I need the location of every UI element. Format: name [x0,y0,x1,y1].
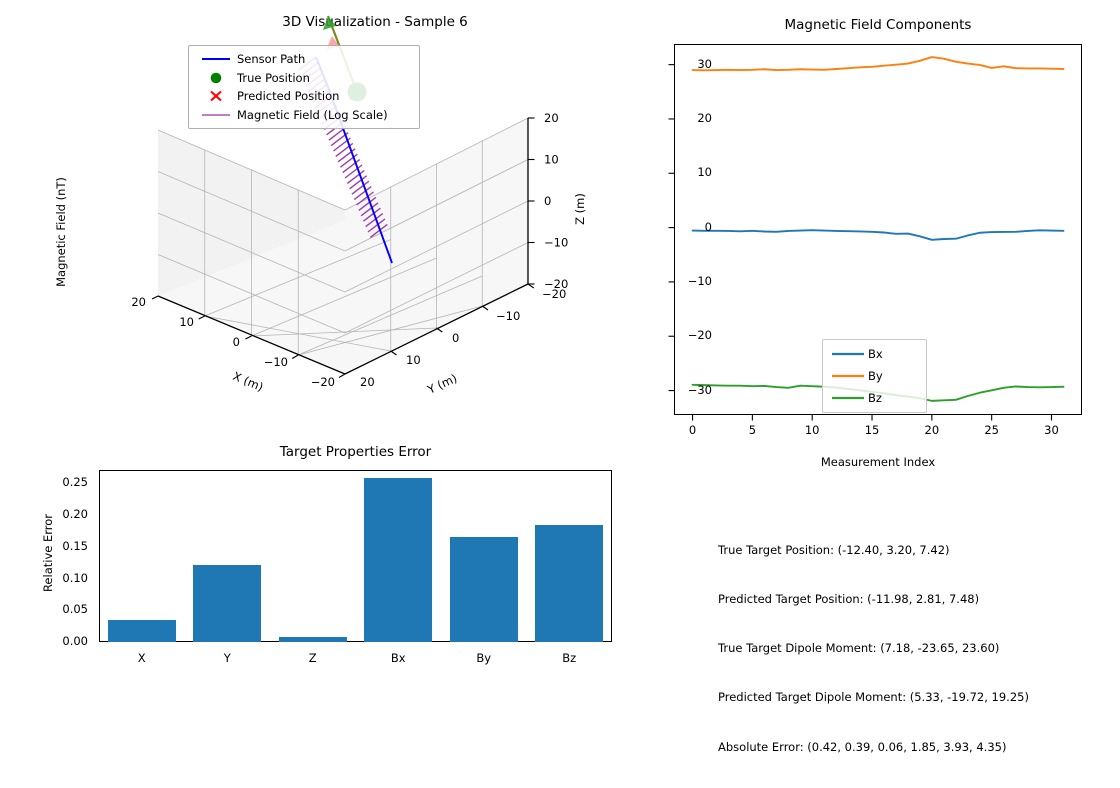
plot3d-xtick-1: 10 [179,315,194,329]
magnetic-field-line-icon [195,110,237,120]
plot3d-xtick-4: −20 [311,375,335,389]
linechart-ytick-1: 20 [664,111,712,125]
plot3d-ztick-0: 20 [544,111,559,125]
barchart-ytick-2: 0.10 [33,571,88,585]
linechart-xtick-0: 0 [673,423,713,437]
summary-text-block: True Target Position: (-12.40, 3.20, 7.4… [718,509,1029,788]
barchart-category-bz: Bz [539,651,599,665]
barchart-category-bx: Bx [368,651,428,665]
true-position-circle-icon [195,72,237,84]
linechart-xlabel: Measurement Index [674,455,1082,469]
legend-item-bx[interactable]: Bx [828,343,921,365]
bx-line-icon [828,350,868,358]
linechart-ytick-4: −10 [664,274,712,288]
plot3d-ztick-2: 0 [544,194,551,208]
legend-label-bz: Bz [868,391,882,405]
linechart-ytick-0: 30 [664,57,712,71]
linechart-xtick-5: 25 [972,423,1012,437]
linechart-ylabel: Magnetic Field (nT) [54,122,68,342]
plot3d-ylabel: Y (m) [424,371,459,397]
barchart-ytick-1: 0.05 [33,602,88,616]
legend-item-predicted-position[interactable]: Predicted Position [195,87,413,106]
linechart-xtick-1: 5 [732,423,772,437]
barchart-ytick-4: 0.20 [33,507,88,521]
barchart-ytick-3: 0.15 [33,539,88,553]
linechart-xtick-4: 20 [912,423,952,437]
barchart-ytick-0: 0.00 [33,634,88,648]
bz-line-icon [828,394,868,402]
plot3d-xtick-3: −10 [264,355,288,369]
legend-label-predicted-position: Predicted Position [237,89,339,103]
linechart-xtick-2: 10 [792,423,832,437]
info-line-true-dipole: True Target Dipole Moment: (7.18, -23.65… [718,640,1029,656]
linechart-xtick-3: 15 [852,423,892,437]
legend-label-by: By [868,369,883,383]
info-line-predicted-dipole: Predicted Target Dipole Moment: (5.33, -… [718,689,1029,705]
linechart-ytick-6: −30 [664,383,712,397]
plot3d-legend[interactable]: Sensor Path True Position Predicted Posi… [188,45,420,129]
linechart-legend[interactable]: Bx By Bz [822,339,927,413]
info-line-predicted-position: Predicted Target Position: (-11.98, 2.81… [718,591,1029,607]
by-line-icon [828,372,868,380]
barchart-category-z: Z [283,651,343,665]
barchart-category-x: X [112,651,172,665]
legend-label-bx: Bx [868,347,883,361]
legend-item-by[interactable]: By [828,365,921,387]
legend-label-sensor-path: Sensor Path [237,52,305,66]
plot3d-ytick-2: 0 [452,331,459,345]
info-line-absolute-error: Absolute Error: (0.42, 0.39, 0.06, 1.85,… [718,739,1029,755]
legend-item-magnetic-field[interactable]: Magnetic Field (Log Scale) [195,106,413,125]
legend-item-sensor-path[interactable]: Sensor Path [195,50,413,69]
legend-label-magnetic-field: Magnetic Field (Log Scale) [237,108,388,122]
sensor-path-line-icon [195,54,237,64]
figure-canvas: 3D Visualization - Sample 6 [0,0,1120,704]
plot3d-ztick-1: 10 [544,153,559,167]
plot3d-ytick-0: 20 [360,375,375,389]
legend-item-true-position[interactable]: True Position [195,69,413,88]
plot3d-ztick-3: −10 [544,236,568,250]
plot3d-zlabel: Z (m) [573,193,587,225]
legend-label-true-position: True Position [237,71,310,85]
linechart-xtick-6: 30 [1031,423,1071,437]
predicted-position-x-icon [195,90,237,102]
plot3d-ztick-4: −20 [544,277,568,291]
plot3d-ytick-1: 10 [406,353,421,367]
plot3d-xlabel: X (m) [231,369,266,394]
barchart-ytick-5: 0.25 [33,475,88,489]
legend-item-bz[interactable]: Bz [828,387,921,409]
linechart-ytick-2: 10 [664,165,712,179]
linechart-ytick-3: 0 [664,220,712,234]
plot3d-xtick-2: 0 [233,335,240,349]
info-line-true-position: True Target Position: (-12.40, 3.20, 7.4… [718,542,1029,558]
plot3d-xtick-0: 20 [131,295,146,309]
linechart-title: Magnetic Field Components [674,17,1082,33]
barchart-category-y: Y [197,651,257,665]
barchart-category-by: By [454,651,514,665]
linechart-ytick-5: −20 [664,328,712,342]
plot3d-ytick-3: −10 [496,309,520,323]
